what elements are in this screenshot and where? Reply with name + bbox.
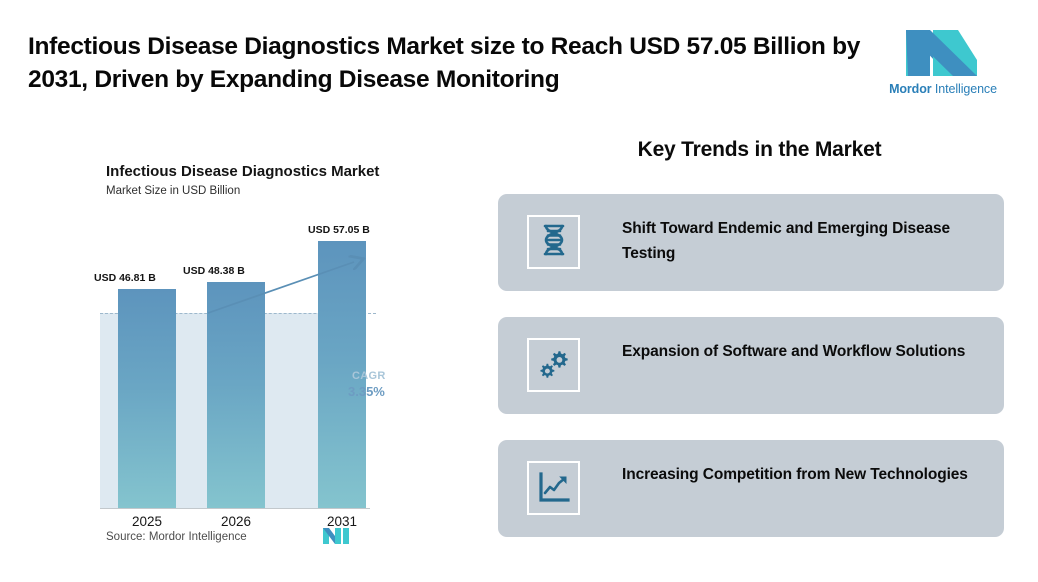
trend-icon-box (527, 215, 580, 269)
trend-card-label: Expansion of Software and Workflow Solut… (622, 339, 982, 364)
page-header: Infectious Disease Diagnostics Market si… (0, 0, 1038, 118)
chart-subtitle: Market Size in USD Billion (106, 185, 240, 197)
cagr-value: 3.35% (348, 384, 385, 399)
dna-helix-icon (539, 224, 569, 260)
trend-chart-icon (537, 472, 571, 504)
trend-card[interactable]: Expansion of Software and Workflow Solut… (498, 317, 1004, 414)
key-trends-heading: Key Trends in the Market (512, 138, 1007, 162)
trend-card[interactable]: Shift Toward Endemic and Emerging Diseas… (498, 194, 1004, 291)
bar-2026 (207, 282, 265, 508)
trend-card[interactable]: Increasing Competition from New Technolo… (498, 440, 1004, 537)
trend-icon-box (527, 338, 580, 392)
bar-value-label: USD 46.81 B (94, 272, 156, 284)
brand-wordmark-light: Intelligence (935, 82, 997, 96)
key-trends-panel: Key Trends in the Market Shift Toward En… (470, 118, 1038, 582)
mordor-intelligence-logo-icon (878, 26, 1008, 80)
trend-icon-box (527, 461, 580, 515)
cagr-label: CAGR (352, 370, 386, 382)
trend-card-label: Shift Toward Endemic and Emerging Diseas… (622, 216, 982, 266)
x-axis-baseline (100, 508, 370, 509)
brand-logo: Mordor Intelligence (878, 26, 1008, 100)
chart-panel: Infectious Disease Diagnostics Market Ma… (0, 118, 470, 582)
mordor-intelligence-mark-icon (322, 526, 350, 546)
page-title: Infectious Disease Diagnostics Market si… (28, 30, 873, 96)
chart-title: Infectious Disease Diagnostics Market (106, 163, 379, 180)
x-tick-2026: 2026 (195, 514, 277, 529)
x-tick-2025: 2025 (106, 514, 188, 529)
bar-value-label: USD 48.38 B (183, 265, 245, 277)
bar-value-label: USD 57.05 B (308, 224, 370, 236)
trend-card-label: Increasing Competition from New Technolo… (622, 462, 982, 487)
brand-wordmark: Mordor Intelligence (878, 82, 1008, 96)
chart-source-label: Source: Mordor Intelligence (106, 531, 247, 543)
bar-chart-plot: USD 46.81 BUSD 48.38 BUSD 57.05 B CAGR 3… (100, 218, 366, 508)
brand-wordmark-bold: Mordor (889, 82, 931, 96)
bar-2025 (118, 289, 176, 508)
gears-icon (537, 348, 571, 382)
